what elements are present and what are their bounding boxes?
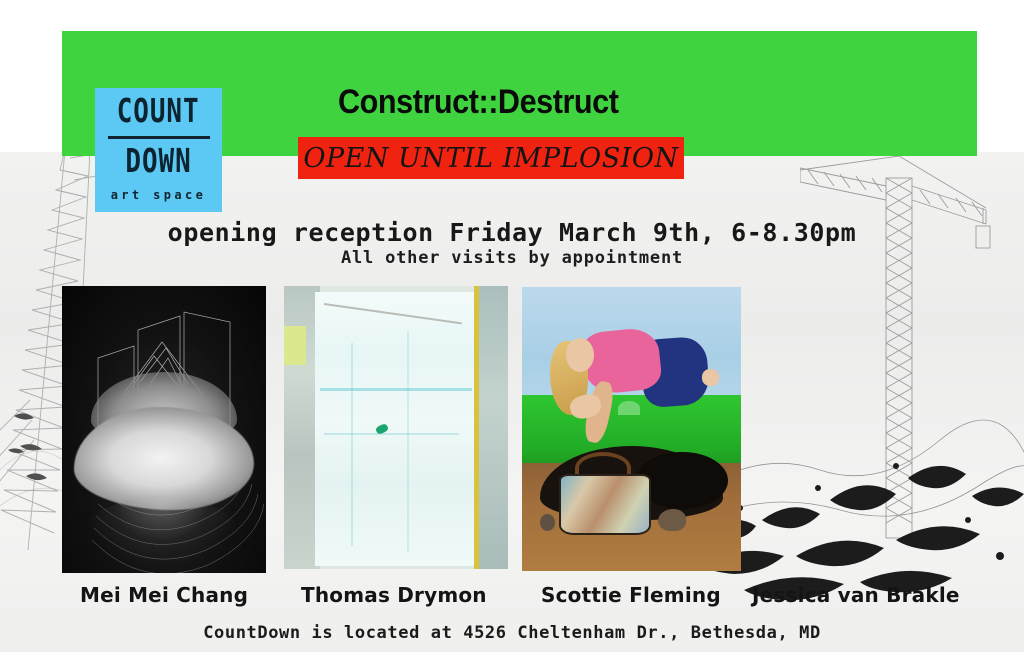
artwork-2-right-panel xyxy=(474,286,508,569)
countdown-logo: COUNT DOWN art space xyxy=(95,88,222,212)
artist-name: Thomas Drymon xyxy=(301,583,487,607)
artwork-2-horizontal-line-1 xyxy=(320,388,472,391)
logo-line-count: COUNT xyxy=(117,95,200,128)
logo-divider xyxy=(108,136,210,139)
red-banner-label: OPEN UNTIL IMPLOSION xyxy=(298,137,684,179)
artist-name: Scottie Fleming xyxy=(541,583,721,607)
artwork-image-scottie-fleming xyxy=(522,287,741,571)
logo-tagline: art space xyxy=(111,188,207,202)
artwork-2-yellow-patch xyxy=(284,326,306,366)
exhibition-title: Construct::Destruct xyxy=(338,83,618,122)
mountain-range-illustration xyxy=(700,370,1024,610)
artist-name: Mei Mei Chang xyxy=(80,583,248,607)
artwork-3-rabbit xyxy=(658,509,686,532)
artwork-3-figure-foot xyxy=(702,369,720,386)
exhibition-poster: COUNT DOWN art space Construct::Destruct… xyxy=(0,0,1024,652)
logo-line-down: DOWN xyxy=(125,145,191,178)
artwork-3-rabbit-small xyxy=(540,514,555,531)
artist-name: Jessica van Brakle xyxy=(752,583,960,607)
artwork-2-horizontal-line-2 xyxy=(324,433,458,435)
artwork-3-grass-tuft xyxy=(618,401,640,415)
artwork-image-mei-mei-chang xyxy=(62,286,266,573)
artwork-2-vertical-line-1 xyxy=(351,343,353,547)
artwork-1-reflection xyxy=(86,498,237,561)
red-banner: OPEN UNTIL IMPLOSION xyxy=(298,137,684,179)
reception-line: opening reception Friday March 9th, 6-8.… xyxy=(0,218,1024,247)
artwork-2-vertical-line-2 xyxy=(407,331,409,552)
artwork-2-center-field xyxy=(315,292,476,567)
artwork-image-thomas-drymon xyxy=(284,286,508,569)
venue-address: CountDown is located at 4526 Cheltenham … xyxy=(0,623,1024,643)
artwork-2-yellow-stripe xyxy=(474,286,479,569)
artwork-3-bag xyxy=(559,474,651,535)
artist-name-row: Mei Mei Chang Thomas Drymon Scottie Flem… xyxy=(0,583,1024,613)
appointment-line: All other visits by appointment xyxy=(0,248,1024,268)
